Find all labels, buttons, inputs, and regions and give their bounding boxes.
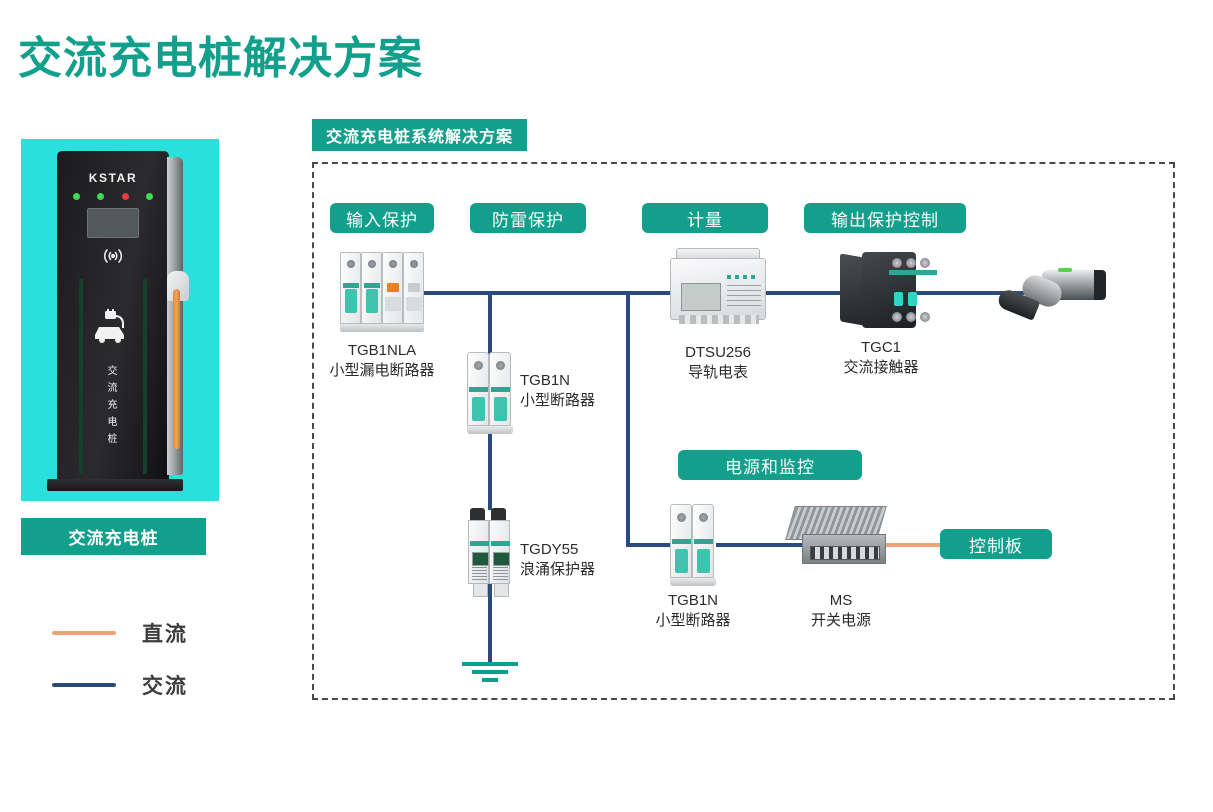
device-name-dtsu256: 导轨电表 bbox=[688, 364, 748, 381]
caption-contactor-tgc1: TGC1 交流接触器 bbox=[818, 338, 944, 378]
caption-meter-dtsu256: DTSU256 导轨电表 bbox=[638, 343, 798, 383]
caption-mcb-tgb1n-lower: TGB1N 小型断路器 bbox=[620, 591, 766, 631]
legend-item-dc: 直流 bbox=[52, 618, 188, 648]
device-contactor-tgc1 bbox=[838, 250, 920, 334]
device-mcb-tgb1n-upper bbox=[467, 352, 513, 434]
caption-rcbo-tgb1nla: TGB1NLA 小型漏电断路器 bbox=[270, 341, 494, 381]
pile-charging-cable bbox=[173, 289, 180, 449]
ev-charging-icon bbox=[57, 309, 169, 348]
legend-item-ac: 交流 bbox=[52, 670, 188, 700]
pile-body: KSTAR bbox=[57, 151, 169, 481]
device-model-tgdy55: TGDY55 bbox=[520, 541, 578, 558]
device-power-supply-ms bbox=[790, 506, 892, 572]
device-spd-tgdy55 bbox=[468, 508, 512, 596]
caption-power-supply-ms: MS 开关电源 bbox=[780, 591, 902, 631]
caption-spd-tgdy55: TGDY55 浪涌保护器 bbox=[520, 540, 670, 580]
wire-ac-meter-to-contactor bbox=[756, 291, 842, 295]
led-green-1 bbox=[73, 193, 80, 200]
legend-label-dc: 直流 bbox=[142, 618, 188, 648]
legend-swatch-dc bbox=[52, 631, 116, 635]
device-name-tgdy55: 浪涌保护器 bbox=[520, 561, 595, 578]
wire-ac-bus-left bbox=[404, 291, 670, 295]
device-name-ms: 开关电源 bbox=[811, 612, 871, 629]
device-name-tgb1n-upper: 小型断路器 bbox=[520, 392, 595, 409]
pile-vertical-text: 交流充电桩 bbox=[57, 363, 169, 448]
product-photo-charging-pile: KSTAR bbox=[21, 139, 219, 501]
device-name-tgb1nla: 小型漏电断路器 bbox=[329, 362, 434, 379]
device-model-tgb1n-lower: TGB1N bbox=[668, 592, 718, 609]
device-model-tgb1nla: TGB1NLA bbox=[348, 342, 416, 359]
ground-symbol bbox=[462, 662, 518, 682]
section-header: 交流充电桩系统解决方案 bbox=[312, 119, 527, 151]
page-title: 交流充电桩解决方案 bbox=[18, 22, 423, 86]
group-pill-control-board[interactable]: 控制板 bbox=[940, 529, 1052, 559]
group-pill-metering[interactable]: 计量 bbox=[642, 203, 768, 233]
pile-led-row bbox=[73, 193, 153, 200]
device-name-tgc1: 交流接触器 bbox=[843, 359, 918, 376]
group-pill-power-and-monitoring[interactable]: 电源和监控 bbox=[678, 450, 862, 480]
led-green-3 bbox=[146, 193, 153, 200]
pile-base bbox=[47, 479, 183, 491]
group-pill-surge-protection[interactable]: 防雷保护 bbox=[470, 203, 586, 233]
device-mcb-tgb1n-lower bbox=[670, 504, 716, 586]
device-meter-dtsu256 bbox=[670, 248, 766, 326]
device-rcbo-tgb1nla bbox=[340, 252, 424, 332]
device-model-ms: MS bbox=[830, 592, 853, 609]
legend-label-ac: 交流 bbox=[142, 670, 188, 700]
device-model-tgb1n-upper: TGB1N bbox=[520, 372, 570, 389]
pile-lcd-screen bbox=[87, 208, 139, 238]
group-pill-input-protection[interactable]: 输入保护 bbox=[330, 203, 434, 233]
led-red bbox=[122, 193, 129, 200]
device-name-tgb1n-lower: 小型断路器 bbox=[655, 612, 730, 629]
wire-ac-branch-psu bbox=[626, 291, 630, 547]
device-model-tgc1: TGC1 bbox=[861, 339, 901, 356]
group-pill-output-protection-control[interactable]: 输出保护控制 bbox=[804, 203, 966, 233]
legend-swatch-ac bbox=[52, 683, 116, 687]
ev-charging-gun bbox=[996, 262, 1104, 324]
rfid-wave-icon bbox=[57, 247, 169, 270]
led-green-2 bbox=[97, 193, 104, 200]
wire-dc-psu-to-controlboard bbox=[884, 543, 942, 547]
product-caption: 交流充电桩 bbox=[21, 518, 206, 555]
pile-brand-label: KSTAR bbox=[57, 171, 169, 185]
device-model-dtsu256: DTSU256 bbox=[685, 344, 751, 361]
